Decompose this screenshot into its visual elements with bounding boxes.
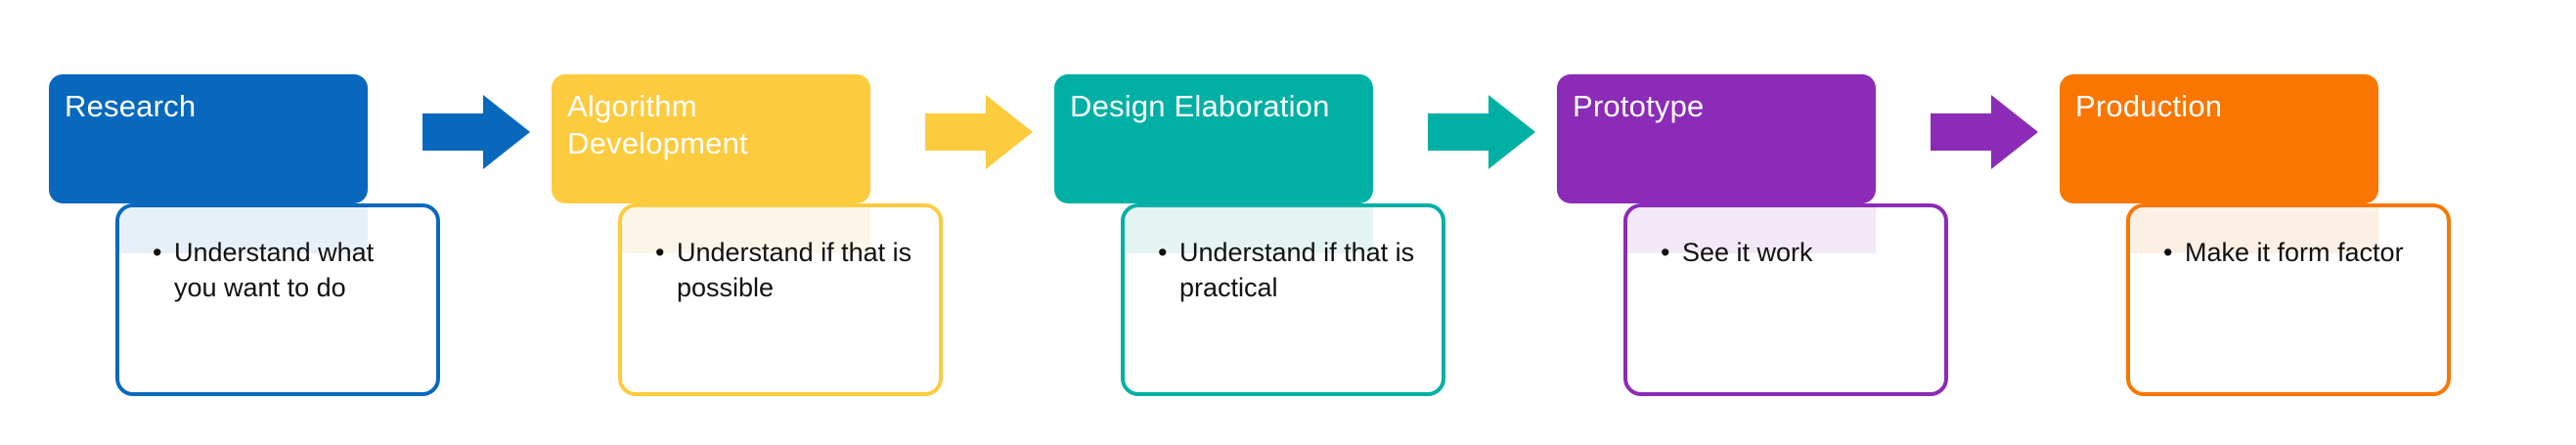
stage-header-panel[interactable]: Prototype	[1557, 74, 1876, 203]
stage-title: Design Elaboration	[1070, 88, 1373, 125]
right-arrow-icon	[1931, 95, 2038, 169]
stage-detail-card[interactable]: Understand what you want to do	[115, 203, 440, 396]
process-stage[interactable]: ProductionMake it form factor	[2060, 0, 2509, 445]
right-arrow-icon	[925, 95, 1033, 169]
stage-bullet-item: See it work	[1661, 235, 1813, 270]
stage-header-panel[interactable]: Production	[2060, 74, 2378, 203]
stage-detail-card[interactable]: Understand if that is possible	[618, 203, 943, 396]
stage-bullet-item: Understand if that is practical	[1158, 235, 1424, 305]
stage-title: Research	[65, 88, 368, 125]
right-arrow-icon	[1428, 95, 1535, 169]
stage-bullet-list: See it work	[1627, 207, 1831, 270]
stage-bullet-list: Understand what you want to do	[119, 207, 436, 305]
stage-detail-card[interactable]: Make it form factor	[2126, 203, 2451, 396]
stage-bullet-list: Understand if that is practical	[1125, 207, 1442, 305]
stage-title: Prototype	[1573, 88, 1876, 125]
process-stage[interactable]: ResearchUnderstand what you want to do	[49, 0, 499, 445]
stage-header-panel[interactable]: Algorithm Development	[552, 74, 870, 203]
process-stage[interactable]: Algorithm DevelopmentUnderstand if that …	[552, 0, 1001, 445]
stage-detail-card[interactable]: See it work	[1623, 203, 1948, 396]
stage-bullet-list: Make it form factor	[2130, 207, 2421, 270]
process-flow-diagram: ResearchUnderstand what you want to doAl…	[0, 0, 2576, 445]
stage-bullet-list: Understand if that is possible	[622, 207, 939, 305]
stage-bullet-item: Make it form factor	[2163, 235, 2404, 270]
stage-bullet-item: Understand what you want to do	[153, 235, 419, 305]
stage-title: Production	[2075, 88, 2378, 125]
stage-detail-card[interactable]: Understand if that is practical	[1121, 203, 1445, 396]
stage-header-panel[interactable]: Design Elaboration	[1054, 74, 1373, 203]
process-stage[interactable]: PrototypeSee it work	[1557, 0, 2007, 445]
right-arrow-icon	[422, 95, 530, 169]
stage-bullet-item: Understand if that is possible	[655, 235, 921, 305]
process-stage[interactable]: Design ElaborationUnderstand if that is …	[1054, 0, 1504, 445]
stage-title: Algorithm Development	[567, 88, 870, 162]
stage-header-panel[interactable]: Research	[49, 74, 368, 203]
